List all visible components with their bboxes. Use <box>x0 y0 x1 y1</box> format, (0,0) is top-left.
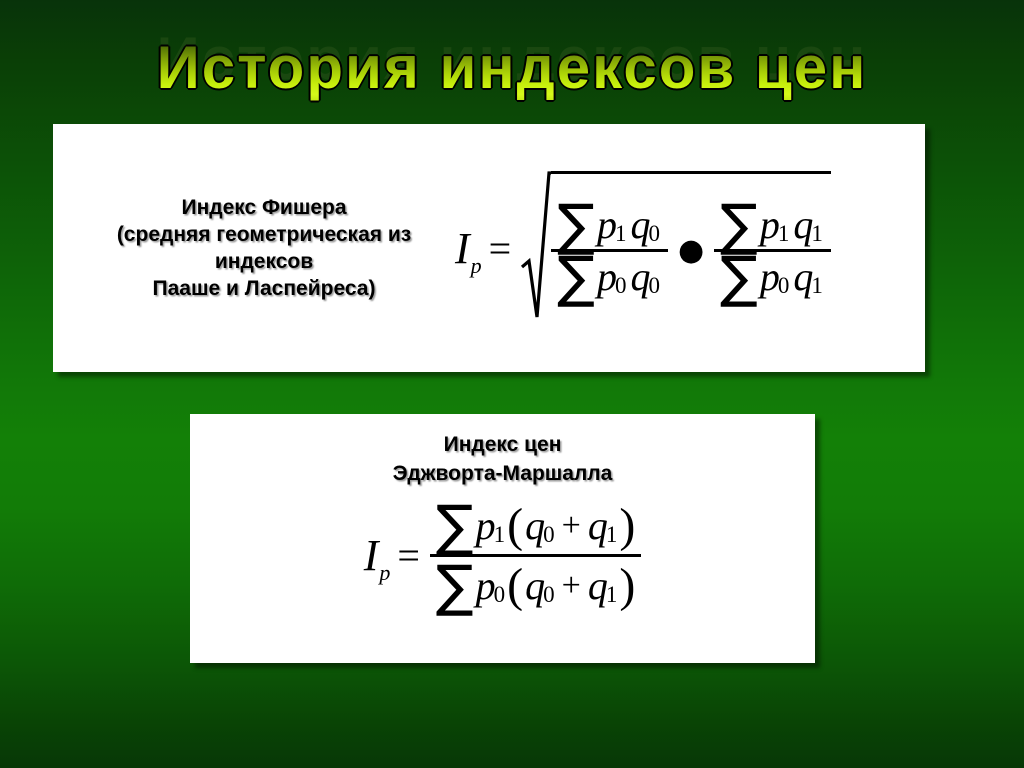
quantity-symbol: q <box>793 253 813 300</box>
page-title: История индексов цен <box>0 35 1024 101</box>
price-subscript: 0 <box>494 582 506 608</box>
edgeworth-denominator: ∑ p0 ( q0 + q1 ) <box>430 558 641 613</box>
edgeworth-marshall-index-panel: Индекс цен Эджворта-Маршалла Ip = ∑ p1 (… <box>190 414 815 663</box>
fisher-caption-line-3: индексов <box>75 248 453 275</box>
edgeworth-fraction: ∑ p1 ( q0 + q1 ) ∑ p0 ( q0 + <box>430 498 641 613</box>
fisher-right-numerator: ∑ p1 q1 <box>714 201 831 248</box>
close-paren: ) <box>619 498 635 553</box>
price-symbol: p <box>476 502 496 549</box>
quantity-symbol-second: q <box>588 562 608 609</box>
sigma-icon: ∑ <box>436 505 474 550</box>
fisher-lhs-symbol: Ip <box>455 223 485 274</box>
fisher-caption-line-2: (средняя геометрическая из <box>75 221 453 248</box>
sigma-icon: ∑ <box>557 256 595 301</box>
fisher-square-root: ∑ p1 q0 ∑ p0 q0 ● <box>521 171 831 326</box>
edgeworth-formula: Ip = ∑ p1 ( q0 + q1 ) ∑ <box>364 498 642 613</box>
open-paren: ( <box>507 498 523 553</box>
quantity-subscript: 0 <box>648 221 660 247</box>
price-subscript: 1 <box>494 522 506 548</box>
fisher-caption: Индекс Фишера (средняя геометрическая из… <box>53 194 453 302</box>
fisher-formula: Ip = ∑ p1 <box>453 171 925 326</box>
fisher-equals-sign: = <box>485 225 522 272</box>
quantity-symbol-first: q <box>525 562 545 609</box>
slide-title-area: История индексов цен История индексов це… <box>0 26 1024 104</box>
edgeworth-numerator: ∑ p1 ( q0 + q1 ) <box>430 498 641 553</box>
quantity-symbol: q <box>630 253 650 300</box>
price-symbol: p <box>597 201 617 248</box>
fisher-caption-line-1: Индекс Фишера <box>75 194 453 221</box>
quantity-subscript-first: 0 <box>543 522 555 548</box>
fisher-left-denominator: ∑ p0 q0 <box>551 253 668 300</box>
fisher-radicand: ∑ p1 q0 ∑ p0 q0 ● <box>551 171 831 326</box>
edgeworth-caption-line-2: Эджворта-Маршалла <box>393 459 613 488</box>
price-subscript: 0 <box>615 273 627 299</box>
price-subscript: 1 <box>615 221 627 247</box>
quantity-subscript: 0 <box>648 273 660 299</box>
price-symbol: p <box>597 253 617 300</box>
fisher-lhs-subscript: p <box>471 253 482 278</box>
sigma-icon: ∑ <box>436 565 474 610</box>
fisher-left-fraction: ∑ p1 q0 ∑ p0 q0 <box>551 201 668 300</box>
fisher-right-denominator: ∑ p0 q1 <box>714 253 831 300</box>
edgeworth-panel-content: Индекс цен Эджворта-Маршалла Ip = ∑ p1 (… <box>190 414 815 663</box>
edgeworth-caption: Индекс цен Эджворта-Маршалла <box>393 430 613 488</box>
price-symbol: p <box>476 562 496 609</box>
multiplication-dot-icon: ● <box>668 236 714 266</box>
quantity-subscript: 1 <box>811 273 823 299</box>
fisher-panel-content: Индекс Фишера (средняя геометрическая из… <box>53 124 925 372</box>
quantity-symbol: q <box>630 201 650 248</box>
quantity-subscript-second: 1 <box>606 522 618 548</box>
quantity-symbol-second: q <box>588 502 608 549</box>
radical-sign-icon <box>521 171 551 326</box>
edgeworth-lhs-symbol: Ip <box>364 530 394 581</box>
sigma-icon: ∑ <box>557 204 595 249</box>
fisher-right-fraction: ∑ p1 q1 ∑ p0 q1 <box>714 201 831 300</box>
quantity-subscript: 1 <box>811 221 823 247</box>
fisher-left-numerator: ∑ p1 q0 <box>551 201 668 248</box>
quantity-subscript-second: 1 <box>606 582 618 608</box>
close-paren: ) <box>619 558 635 613</box>
plus-sign: + <box>557 507 586 545</box>
price-subscript: 1 <box>778 221 790 247</box>
sigma-icon: ∑ <box>720 204 758 249</box>
edgeworth-lhs-subscript: p <box>379 560 390 585</box>
radical-glyph <box>521 171 551 321</box>
presentation-slide: История индексов цен История индексов це… <box>0 0 1024 768</box>
price-subscript: 0 <box>778 273 790 299</box>
open-paren: ( <box>507 558 523 613</box>
fisher-index-panel: Индекс Фишера (средняя геометрическая из… <box>53 124 925 372</box>
edgeworth-caption-line-1: Индекс цен <box>393 430 613 459</box>
price-symbol: p <box>760 253 780 300</box>
quantity-symbol: q <box>793 201 813 248</box>
quantity-symbol-first: q <box>525 502 545 549</box>
price-symbol: p <box>760 201 780 248</box>
plus-sign: + <box>557 567 586 605</box>
sigma-icon: ∑ <box>720 256 758 301</box>
fisher-caption-line-4: Пааше и Ласпейреса) <box>75 275 453 302</box>
edgeworth-equals-sign: = <box>393 532 430 579</box>
quantity-subscript-first: 0 <box>543 582 555 608</box>
